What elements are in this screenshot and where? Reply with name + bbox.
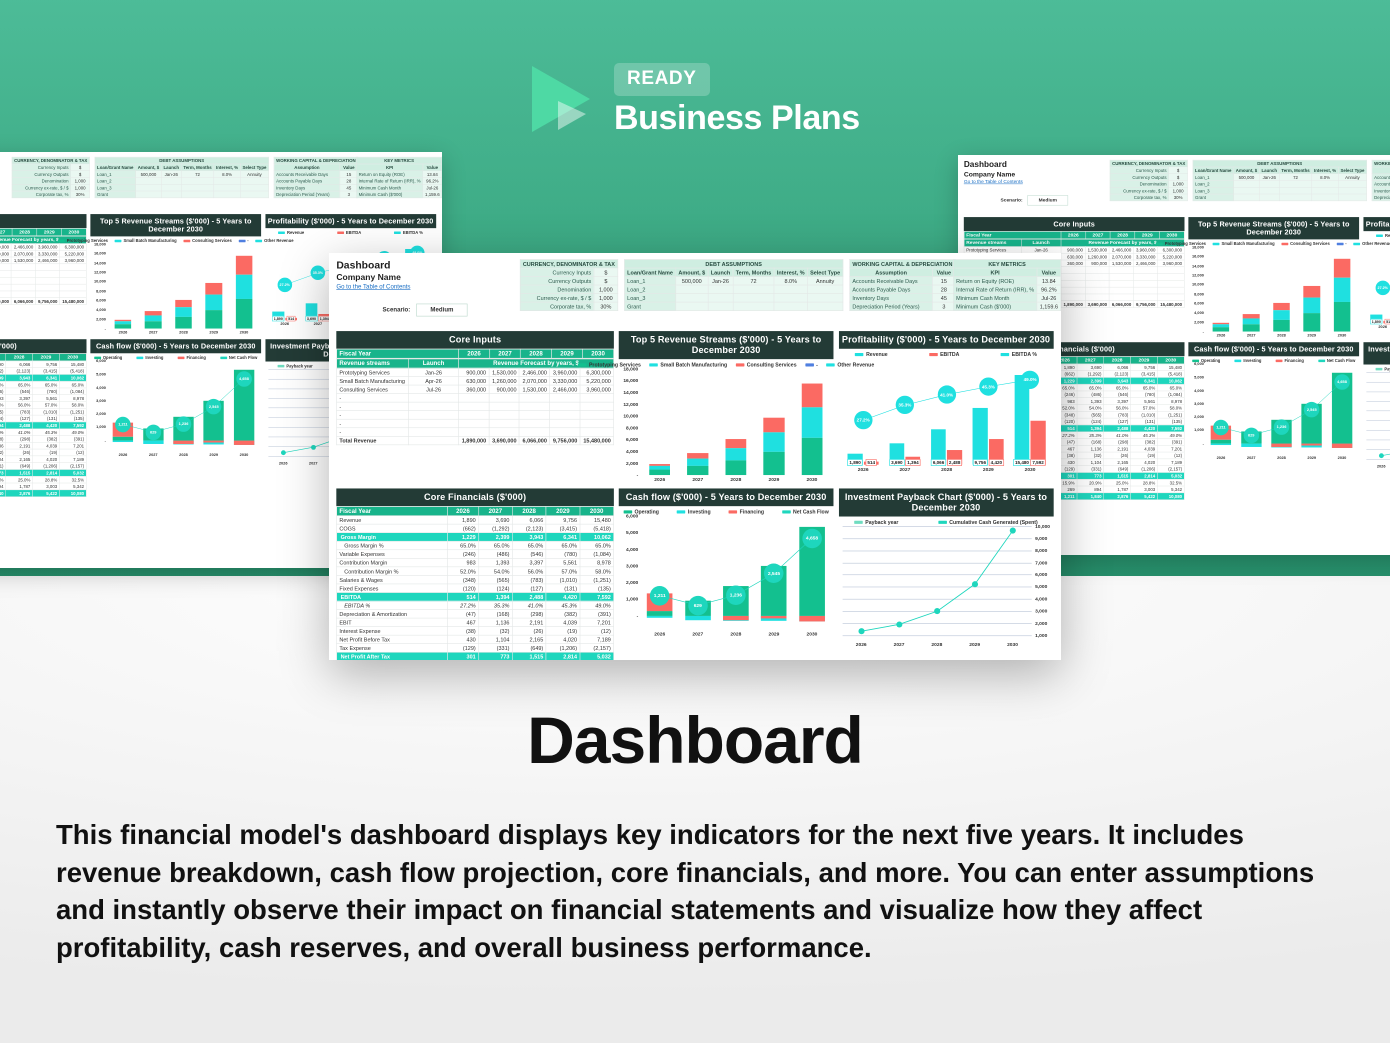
financial-value: 5,032	[1157, 472, 1184, 479]
legend-item: EBITDA	[337, 230, 361, 235]
bar-group: 1,890514	[845, 359, 880, 465]
financial-value: 5,032	[580, 652, 614, 660]
key-metrics-table: KEY METRICSKPIValueReturn on Equity (ROE…	[356, 157, 442, 198]
table-cell: 13.84	[423, 171, 442, 178]
x-axis: 20262027202820292030	[641, 475, 831, 484]
table-cell: Jan-26	[708, 276, 733, 285]
bar-segment	[725, 461, 746, 476]
table-cell	[181, 184, 214, 191]
financial-value: 7,189	[580, 635, 614, 644]
fiscal-year-row: Fiscal Year20262027202820292030	[0, 354, 86, 361]
x-tick: 2026	[280, 322, 289, 326]
payback-point	[896, 621, 902, 627]
panel-label: Currency Outputs	[12, 171, 71, 178]
financial-label: Salaries & Wages	[337, 575, 448, 584]
stream-value	[35, 271, 59, 278]
fiscal-year-label: Fiscal Year	[964, 231, 1061, 238]
payback-point	[934, 608, 940, 614]
launch-col-header: Launch	[1021, 239, 1061, 246]
bar-segment	[236, 275, 253, 299]
financial-value: (2,123)	[1104, 371, 1131, 378]
x-tick: 2029	[768, 631, 779, 636]
stream-value: 630,000	[458, 377, 488, 386]
scenario-select[interactable]: Medium	[416, 303, 467, 316]
bar-segment	[234, 370, 254, 441]
financial-value: 430	[447, 635, 478, 644]
legend-item: Small Batch Manufacturing	[115, 238, 177, 243]
x-tick: 2028	[1277, 455, 1286, 459]
table-cell	[676, 302, 708, 311]
year-header: 2027	[489, 349, 520, 358]
x-tick: 2029	[983, 466, 994, 471]
legend-swatch	[929, 353, 938, 356]
scenario-row: Scenario:Medium	[0, 192, 7, 202]
legend-swatch	[1376, 235, 1383, 237]
stream-value	[580, 419, 614, 428]
total-revenue-value: 1,890,000	[1061, 301, 1085, 308]
financial-value: 1,394	[1077, 425, 1104, 432]
y-tick: 4,000	[626, 449, 638, 454]
legend-item: -	[805, 362, 818, 368]
debt-panel-wrap: DEBT ASSUMPTIONSLoan/Grant NameAmount, $…	[95, 157, 269, 198]
bar-stack	[687, 453, 708, 475]
dashboard-identity: DashboardCompany NameGo to the Table of …	[0, 157, 7, 202]
plot-area: -1,0002,0003,0004,0005,0006,0001,2116291…	[90, 361, 261, 458]
financial-value: 65.0%	[1157, 384, 1184, 391]
financial-value: 25.0%	[1104, 479, 1131, 486]
table-cell: Accounts Receivable Days	[274, 171, 340, 178]
spacer	[409, 436, 459, 445]
table-cell: Loan_3	[624, 294, 675, 303]
scenario-label: Scenario:	[1001, 198, 1023, 203]
bar-segment	[1302, 443, 1322, 445]
stream-value: 2,070,000	[519, 377, 549, 386]
dashboard-header: DashboardCompany NameGo to the Table of …	[0, 157, 436, 211]
financial-label: COGS	[337, 524, 448, 533]
stream-value: 3,330,000	[1133, 253, 1157, 260]
stream-value: 1,530,000	[11, 257, 35, 264]
currency-panel-wrap: CURRENCY, DENOMINATOR & TAXCurrency Inpu…	[520, 259, 618, 311]
year-header: 2029	[1131, 357, 1158, 364]
financial-value: 65.0%	[1077, 384, 1104, 391]
financial-value: (1,084)	[1157, 391, 1184, 398]
stream-value	[550, 402, 580, 411]
financial-value: 8,978	[580, 558, 614, 567]
scenario-select[interactable]: Medium	[1027, 195, 1068, 205]
table-cell: Grant	[95, 191, 136, 198]
financial-value: 3,943	[1104, 377, 1131, 384]
financial-label: Contribution Margin %	[337, 567, 448, 576]
stream-name: Prototyping Services	[337, 368, 409, 377]
stream-value: 1,530,000	[489, 368, 519, 377]
legend-item: Consulting Services	[1281, 241, 1329, 246]
chart-cash-flow: Cash flow ($'000) - 5 Years to December …	[619, 488, 834, 637]
financial-value: 1,393	[478, 558, 512, 567]
x-tick: 2029	[1307, 333, 1316, 337]
panel-label: Currency Outputs	[1110, 174, 1169, 181]
financial-value: 3,690	[1077, 364, 1104, 371]
total-revenue-value: 3,690,000	[1085, 301, 1109, 308]
table-cell	[1279, 180, 1312, 187]
y-tick: 18,000	[1192, 245, 1204, 249]
table-cell: 1,159.6	[423, 191, 442, 198]
bar-group: 15,4807,592	[1012, 359, 1047, 465]
debt-panel-wrap: DEBT ASSUMPTIONSLoan/Grant NameAmount, $…	[624, 259, 843, 311]
table-cell: Jul-26	[423, 184, 442, 191]
y-tick: 4,000	[1194, 311, 1204, 315]
bar-segment	[173, 440, 193, 443]
column-header: Interest, %	[1312, 167, 1338, 174]
stream-value	[1158, 280, 1185, 287]
stream-value: 3,960,000	[1133, 246, 1157, 253]
chart-title: Profitability ($'000) - 5 Years to Decem…	[265, 214, 436, 228]
financial-value: 15,480	[59, 361, 86, 368]
table-cell: Minimum Cash Month	[356, 184, 422, 191]
fiscal-year-label: Fiscal Year	[337, 349, 459, 358]
financial-value: 65.0%	[1131, 384, 1158, 391]
stream-name: Consulting Services	[337, 385, 409, 394]
table-cell	[161, 184, 181, 191]
legend-swatch	[1156, 243, 1163, 245]
stream-value	[489, 428, 519, 437]
financial-value: 65.0%	[6, 381, 33, 388]
y-tick: 3,000	[1194, 402, 1204, 406]
launch-col-header: Launch	[409, 359, 459, 368]
stream-value	[1061, 287, 1085, 294]
bar-column: 9,756	[973, 408, 988, 465]
financial-value: (127)	[512, 584, 546, 593]
total-revenue-value: 6,066,000	[1109, 301, 1133, 308]
financial-value: (2,157)	[1157, 466, 1184, 473]
y-axis: -1,0002,0003,0004,0005,0006,000	[90, 361, 106, 451]
financial-value: 65.0%	[59, 381, 86, 388]
x-axis: 20262027202820292030	[641, 629, 831, 638]
bar	[973, 408, 988, 465]
column-header: Loan/Grant Name	[95, 164, 136, 171]
total-revenue-value: 15,480,000	[1158, 301, 1185, 308]
bar-segment	[1273, 310, 1290, 320]
table-cell	[676, 285, 708, 294]
stream-value: 2,466,000	[11, 243, 35, 250]
x-tick: 2030	[1025, 466, 1036, 471]
year-header: 2030	[583, 349, 614, 358]
chart-cash-flow: Cash flow ($'000) - 5 Years to December …	[1188, 342, 1359, 461]
table-row: Loan_1500,000Jan-26728.0%Annuity	[95, 171, 269, 178]
bar-segment	[205, 310, 222, 329]
total-revenue-row: Total Revenue1,890,0003,690,0006,066,000…	[337, 436, 614, 445]
legend-swatch	[1353, 243, 1360, 245]
legend-item: Payback year	[854, 519, 898, 525]
table-cell: 45	[933, 294, 956, 303]
chart-title: Top 5 Revenue Streams ($'000) - 5 Years …	[1188, 217, 1359, 239]
stream-value	[1085, 267, 1109, 274]
table-row: Minimum Cash MonthJul-26	[356, 184, 441, 191]
financial-label: Depreciation & Amortization	[337, 610, 448, 619]
panel-label: Denomination	[1110, 180, 1169, 187]
stream-launch	[409, 411, 459, 420]
financial-value: 56.0%	[1104, 405, 1131, 412]
financial-value: (298)	[512, 610, 546, 619]
stream-value	[1085, 274, 1109, 281]
financial-row: Net Profit After Tax3017731,5152,8145,03…	[337, 652, 614, 660]
financial-value: 2,814	[1131, 472, 1158, 479]
financial-value: 6,066	[1104, 364, 1131, 371]
y-tick: 5,000	[626, 530, 638, 535]
y-axis: -2,0004,0006,0008,00010,00012,00014,0001…	[1188, 247, 1204, 331]
y-tick: 4,000	[96, 385, 106, 389]
total-revenue-value: 9,756,000	[1133, 301, 1157, 308]
financial-value: (546)	[512, 550, 546, 559]
panel-label: Denomination	[520, 285, 594, 294]
panel-row: Corporate tax, %30%	[1110, 194, 1188, 201]
financial-value: 2,488	[512, 592, 546, 601]
financial-value: (783)	[512, 575, 546, 584]
legend-item: Investing	[137, 355, 164, 360]
year-header: 2027	[1086, 231, 1111, 238]
table-cell: 72	[733, 276, 774, 285]
financial-value: 57.0%	[1131, 405, 1158, 412]
bar-segment	[802, 384, 823, 407]
financial-row: Net Profit Before Tax4301,1042,1654,0207…	[0, 456, 86, 463]
year-header: 2027	[478, 506, 512, 515]
column-header: Select Type	[1338, 167, 1366, 174]
financial-value: 15,480	[1157, 364, 1184, 371]
panel-value: 1,000	[594, 285, 618, 294]
debt-panel-wrap: DEBT ASSUMPTIONSLoan/Grant NameAmount, $…	[1193, 160, 1367, 201]
table-cell: 3	[340, 191, 358, 198]
payback-line	[842, 526, 1031, 639]
bar-segment	[236, 299, 253, 329]
table-cell	[708, 302, 733, 311]
financial-value: 45.3%	[546, 601, 580, 610]
bar-segment	[725, 448, 746, 460]
total-revenue-value: 15,480,000	[60, 298, 87, 305]
table-cell: 3	[933, 302, 956, 311]
x-tick: 2027	[899, 466, 910, 471]
bar-segment	[113, 423, 133, 437]
bar-group: 6,0662,488	[929, 359, 964, 465]
payback-line	[1366, 372, 1390, 462]
table-cell	[136, 191, 162, 198]
panel-title: WORKING CAPITAL & DEPRECIATION	[850, 259, 956, 268]
bars-area	[1206, 364, 1357, 454]
table-cell: Jan-26	[1259, 174, 1279, 181]
legend-swatch	[938, 521, 947, 524]
table-row: Depreciation Period (Years)3	[274, 191, 358, 198]
financial-value: (32)	[478, 627, 512, 636]
bars-area	[641, 369, 831, 475]
column-header: Amount, $	[136, 164, 162, 171]
legend-item: Net Cash Flow	[782, 509, 829, 515]
financial-row: COGS(662)(1,292)(2,123)(3,415)(5,418)	[0, 368, 86, 375]
stream-value	[35, 291, 59, 298]
stream-value: 1,530,000	[519, 385, 549, 394]
table-row: -	[337, 419, 614, 428]
financial-row: Tax Expense(129)(331)(649)(1,206)(2,157)	[337, 644, 614, 653]
table-row: Internal Rate of Return (IRR), %96.2%	[356, 177, 441, 184]
financial-value: 4,020	[33, 456, 60, 463]
legend-payback: Payback yearCumulative Cash Generated (S…	[839, 517, 1054, 527]
stream-value	[0, 264, 11, 271]
bar-segment	[1273, 320, 1290, 332]
table-cell	[214, 184, 240, 191]
financial-value: 54.0%	[478, 567, 512, 576]
total-revenue-value: 15,480,000	[580, 436, 614, 445]
bar-stack	[763, 418, 784, 476]
table-of-contents-link[interactable]: Go to the Table of Contents	[336, 283, 410, 290]
plot-area: -2,0004,0006,0008,00010,00012,00014,0001…	[90, 244, 261, 335]
year-header: 2027	[0, 228, 12, 235]
y-tick: 1,000	[626, 596, 638, 601]
plot-area: 1,8905143,6901,3946,0662,4889,7564,42015…	[1363, 239, 1390, 330]
fiscal-year-row: Fiscal Year20262027202820292030	[0, 228, 86, 235]
financial-value: 10,080	[59, 490, 86, 497]
bar-segment	[113, 440, 133, 442]
stream-value: 3,960,000	[35, 243, 59, 250]
stream-value: 1,530,000	[1085, 246, 1109, 253]
table-of-contents-link[interactable]: Go to the Table of Contents	[964, 179, 1023, 184]
stream-value: 5,220,000	[60, 250, 87, 257]
financial-value: (32)	[1077, 452, 1104, 459]
stream-value	[11, 271, 35, 278]
bar-segment	[204, 401, 224, 441]
company-name: Company Name	[0, 166, 7, 175]
financial-value: 1,393	[1077, 398, 1104, 405]
table-cell	[708, 294, 733, 303]
dashboard-preview-main[interactable]: DashboardCompany NameGo to the Table of …	[329, 253, 1061, 660]
stream-value	[1133, 274, 1157, 281]
revenue-streams-table: Revenue streamsLaunchRevenue Forecast by…	[336, 359, 614, 446]
scenario-row: Scenario:Medium	[964, 195, 1105, 205]
table-cell: Annuity	[1338, 174, 1366, 181]
x-tick: 2026	[654, 477, 665, 482]
bar-column: 4,420	[989, 439, 1004, 465]
table-cell: Internal Rate of Return (IRR), %	[953, 285, 1037, 294]
table-cell	[181, 177, 214, 184]
x-tick: 2027	[309, 461, 318, 465]
payback-point	[311, 445, 316, 450]
bar-segment	[1332, 373, 1352, 444]
dashboard-title: Dashboard	[964, 160, 1105, 169]
payback-chart-wrap: Investment Payback Chart ($'000) - 5 Yea…	[1363, 342, 1390, 500]
financial-value: (3,415)	[33, 368, 60, 375]
table-row: Accounts Payable Days28	[1372, 180, 1390, 187]
financial-row: Revenue1,8903,6906,0669,75615,480	[0, 361, 86, 368]
financial-label: Contribution Margin	[337, 558, 448, 567]
legend-swatch	[1276, 360, 1283, 362]
table-row: Prototyping ServicesJan-26900,0001,530,0…	[337, 368, 614, 377]
financial-value: 3,003	[1131, 486, 1158, 493]
y-tick: 18,000	[623, 366, 638, 371]
bar-segment	[1243, 324, 1260, 331]
table-cell: Loan_1	[624, 276, 675, 285]
financial-row: Net Profit After Tax3017731,5152,8145,03…	[0, 469, 86, 476]
x-tick: 2030	[240, 452, 249, 456]
currency-panel-wrap: CURRENCY, DENOMINATOR & TAXCurrency Inpu…	[1110, 160, 1188, 201]
stream-launch	[409, 419, 459, 428]
bar-stack	[1303, 286, 1320, 332]
financial-value: 1,515	[1104, 472, 1131, 479]
table-cell	[774, 285, 807, 294]
x-tick: 2030	[1338, 455, 1347, 459]
panel-title: CURRENCY, DENOMINATOR & TAX	[520, 259, 618, 268]
financial-value: 1,136	[478, 618, 512, 627]
year-header: 2029	[546, 506, 580, 515]
y-tick: 2,000	[1194, 320, 1204, 324]
table-row: Consulting ServicesJul-26360,000900,0001…	[0, 257, 86, 264]
financial-value: 7,201	[59, 442, 86, 449]
financial-value: (26)	[1104, 452, 1131, 459]
stream-value	[489, 394, 519, 403]
core-financials-block: Core Financials ($'000)Fiscal Year202620…	[336, 488, 614, 660]
bar-segment	[205, 294, 222, 310]
financial-value: 49.0%	[1157, 432, 1184, 439]
table-cell: 96.2%	[423, 177, 442, 184]
year-header: 2026	[458, 349, 489, 358]
financial-value: (19)	[1131, 452, 1158, 459]
bar-group	[683, 516, 713, 629]
column-header: Value	[933, 268, 956, 277]
panel-label: Currency ex-rate, $ / $	[1110, 187, 1169, 194]
plot-area: -2,0004,0006,0008,00010,00012,00014,0001…	[1188, 247, 1359, 338]
legend-item: Payback year	[1376, 366, 1390, 371]
financial-row: Net Profit After Tax %15.9%20.9%25.0%28.…	[0, 476, 86, 483]
table-cell	[1259, 180, 1279, 187]
payback-point	[1379, 453, 1384, 458]
bar-group	[141, 361, 165, 451]
plot-area: -1,0002,0003,0004,0005,0006,0001,2116291…	[619, 516, 834, 638]
table-cell: Jul-26	[1037, 294, 1061, 303]
stream-value	[1133, 267, 1157, 274]
x-tick: 2026	[1377, 464, 1386, 468]
stream-value: 2,466,000	[1109, 246, 1133, 253]
column-header: Term, Months	[181, 164, 214, 171]
legend-top5: Prototyping ServicesSmall Batch Manufact…	[90, 236, 261, 244]
financial-value: 27.2%	[447, 601, 478, 610]
legend-item: Net Cash Flow	[220, 355, 257, 360]
panel-row: Currency Inputs$	[520, 268, 618, 277]
table-row: Small Batch ManufacturingApr-26630,0001,…	[0, 250, 86, 257]
x-axis: 20262027202820292030	[108, 329, 259, 336]
total-revenue-value: 1,890,000	[458, 436, 488, 445]
fiscal-year-row: Fiscal Year20262027202820292030	[337, 506, 614, 515]
financial-value: (780)	[546, 550, 580, 559]
bar-stack	[802, 384, 823, 475]
bar-segment	[1271, 420, 1291, 444]
stream-value	[1133, 294, 1157, 301]
stream-value	[1158, 287, 1185, 294]
financial-value: (780)	[1131, 391, 1158, 398]
financial-value: 1,515	[6, 469, 33, 476]
legend-profit: RevenueEBITDAEBITDA %	[839, 349, 1054, 359]
bar-group	[1300, 364, 1324, 454]
table-row: Minimum Cash ($'000)1,159.6	[356, 191, 441, 198]
bar-segment	[1211, 426, 1231, 440]
table-row: Minimum Cash MonthJul-26	[953, 294, 1060, 303]
table-cell	[161, 177, 181, 184]
financial-value: 2,165	[1104, 459, 1131, 466]
financial-value: 41.0%	[512, 601, 546, 610]
financial-value: 1,229	[447, 533, 478, 542]
legend-swatch	[1235, 360, 1242, 362]
financial-value: (298)	[1104, 438, 1131, 445]
financial-value: 1,515	[512, 652, 546, 660]
financial-value: (382)	[33, 435, 60, 442]
financial-value: 10,062	[580, 533, 614, 542]
bars-area: 1,8905143,6901,3946,0662,4889,7564,42015…	[1366, 239, 1390, 323]
debt-assumptions-table: DEBT ASSUMPTIONSLoan/Grant NameAmount, $…	[624, 259, 843, 311]
panel-value: 30%	[1169, 194, 1188, 201]
